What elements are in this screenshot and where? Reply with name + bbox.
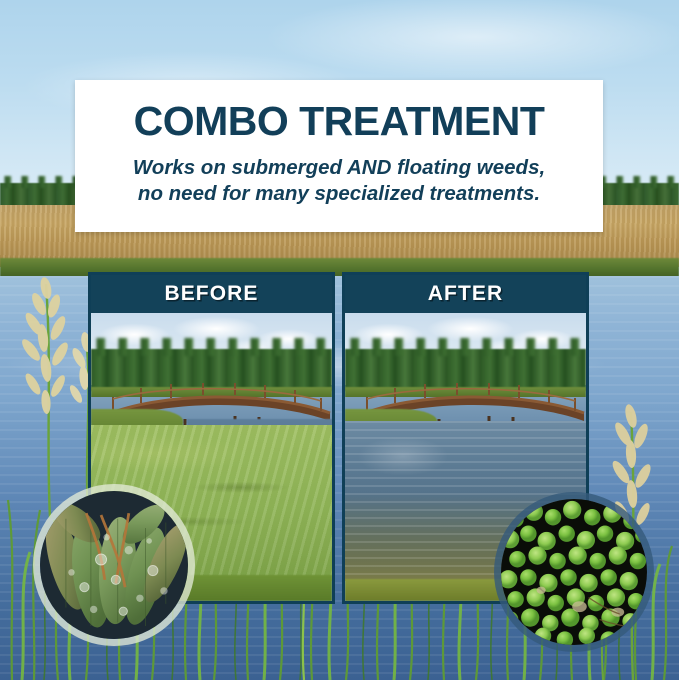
headline-subtitle-line-2: no need for many specialized treatments. — [133, 181, 545, 207]
headline-subtitle-line-1: Works on submerged AND floating weeds, — [133, 155, 545, 181]
panel-after-label: AFTER — [428, 282, 504, 306]
inset-submerged-weeds — [33, 484, 195, 646]
headline-card: COMBO TREATMENT Works on submerged AND f… — [75, 80, 603, 232]
page-title: COMBO TREATMENT — [134, 101, 545, 142]
panel-before-label: BEFORE — [164, 282, 258, 306]
submerged-weed-photo — [40, 491, 188, 639]
panel-before-banner: BEFORE — [91, 275, 332, 313]
inset-floating-weeds — [494, 492, 654, 652]
headline-subtitle: Works on submerged AND floating weeds, n… — [133, 155, 545, 206]
panel-after-banner: AFTER — [345, 275, 586, 313]
promo-image: COMBO TREATMENT Works on submerged AND f… — [0, 0, 679, 680]
floating-weed-photo — [501, 499, 647, 645]
